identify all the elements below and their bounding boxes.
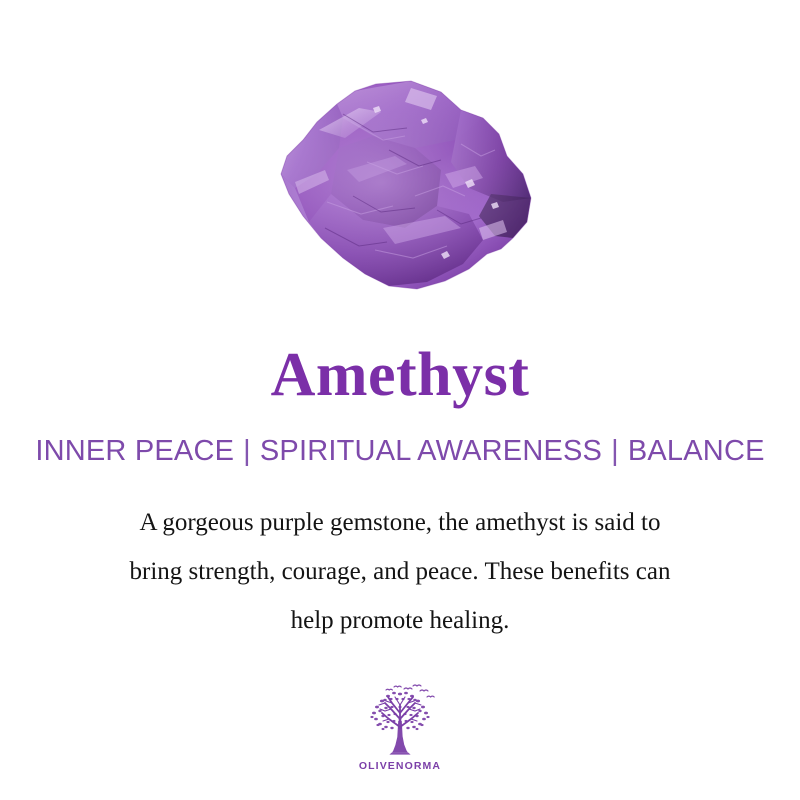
page-title: Amethyst xyxy=(271,318,530,408)
description-line-2: bring strength, courage, and peace. Thes… xyxy=(40,547,760,596)
description-line-1: A gorgeous purple gemstone, the amethyst… xyxy=(40,498,760,547)
logo-wordmark: OLIVENORMA xyxy=(359,760,441,772)
keyword-inner-peace: INNER PEACE xyxy=(35,435,234,467)
description-line-3: help promote healing. xyxy=(40,596,760,645)
hero-image-area xyxy=(0,0,800,318)
amethyst-stone-illustration xyxy=(255,78,557,296)
keyword-subtitle: INNER PEACE|SPIRITUAL AWARENESS|BALANCE xyxy=(35,408,764,468)
tree-of-life-icon xyxy=(358,681,442,757)
keyword-spiritual-awareness: SPIRITUAL AWARENESS xyxy=(260,435,602,467)
amethyst-info-card: Amethyst INNER PEACE|SPIRITUAL AWARENESS… xyxy=(0,0,800,800)
stone-body xyxy=(255,78,557,296)
brand-logo: OLIVENORMA xyxy=(340,681,460,772)
keyword-balance: BALANCE xyxy=(628,435,765,467)
keyword-separator-2: | xyxy=(602,435,628,467)
amethyst-stone-image xyxy=(255,78,557,296)
keyword-separator-1: | xyxy=(234,435,260,467)
description-text: A gorgeous purple gemstone, the amethyst… xyxy=(40,468,760,645)
